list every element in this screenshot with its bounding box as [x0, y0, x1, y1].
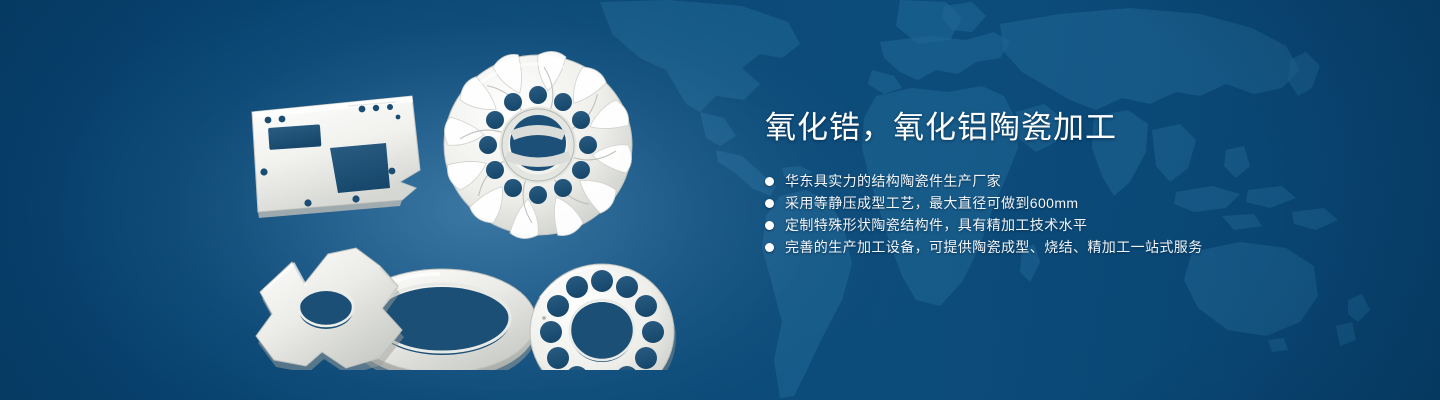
bullet-dot-icon — [765, 199, 774, 208]
list-item: 采用等静压成型工艺，最大直径可做到600mm — [765, 192, 1405, 214]
ceramic-products-photo — [230, 40, 700, 370]
promo-banner: 氧化锆，氧化铝陶瓷加工 华东具实力的结构陶瓷件生产厂家 采用等静压成型工艺，最大… — [0, 0, 1440, 400]
banner-text-block: 氧化锆，氧化铝陶瓷加工 华东具实力的结构陶瓷件生产厂家 采用等静压成型工艺，最大… — [765, 108, 1405, 258]
ceramic-perforated-disc — [530, 264, 676, 370]
bullet-dot-icon — [765, 221, 774, 230]
list-item: 华东具实力的结构陶瓷件生产厂家 — [765, 170, 1405, 192]
ceramic-flat-plate — [252, 96, 420, 218]
feature-text: 定制特殊形状陶瓷结构件，具有精加工技术水平 — [785, 214, 1087, 236]
feature-text: 华东具实力的结构陶瓷件生产厂家 — [785, 170, 1001, 192]
list-item: 定制特殊形状陶瓷结构件，具有精加工技术水平 — [765, 214, 1405, 236]
feature-text: 采用等静压成型工艺，最大直径可做到600mm — [785, 192, 1078, 214]
list-item: 完善的生产加工设备，可提供陶瓷成型、烧结、精加工一站式服务 — [765, 236, 1405, 258]
bullet-dot-icon — [765, 177, 774, 186]
banner-feature-list: 华东具实力的结构陶瓷件生产厂家 采用等静压成型工艺，最大直径可做到600mm 定… — [765, 170, 1405, 258]
feature-text: 完善的生产加工设备，可提供陶瓷成型、烧结、精加工一站式服务 — [785, 236, 1203, 258]
ceramic-impeller-disc — [443, 50, 633, 240]
bullet-dot-icon — [765, 243, 774, 252]
ceramic-cross-part — [256, 248, 404, 370]
banner-headline: 氧化锆，氧化铝陶瓷加工 — [765, 108, 1405, 148]
